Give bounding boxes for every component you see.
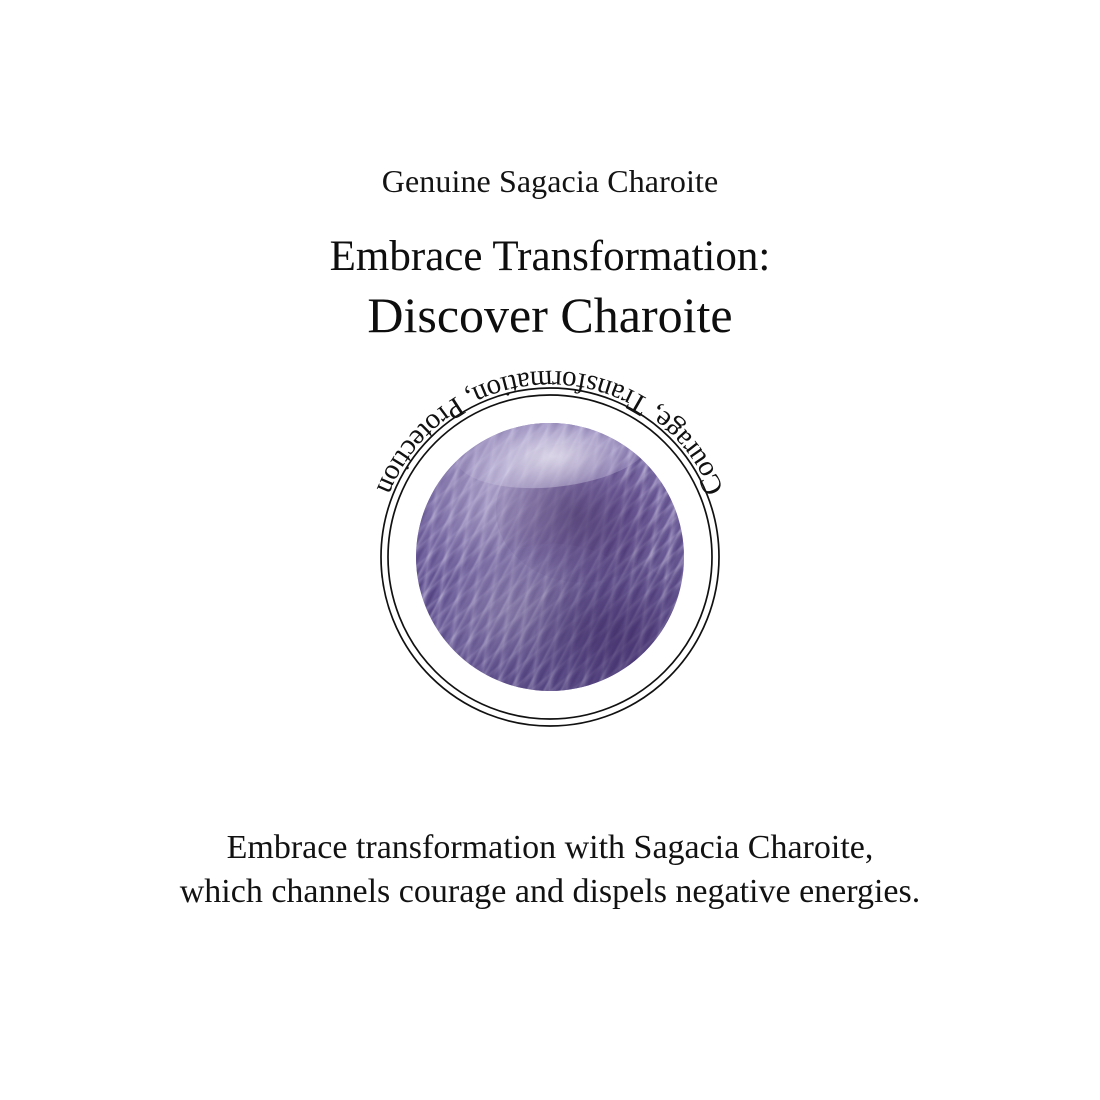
- product-description: Embrace transformation with Sagacia Char…: [0, 826, 1100, 913]
- headline-line-1: Embrace Transformation:: [0, 234, 1100, 280]
- arc-caption-textpath: Courage, Transformation, Protection: [370, 364, 730, 500]
- charoite-product-card: Genuine Sagacia Charoite Embrace Transfo…: [0, 0, 1100, 1100]
- description-line-2: which channels courage and dispels negat…: [0, 870, 1100, 914]
- emblem-rings-and-caption: Courage, Transformation, Protection: [300, 307, 800, 807]
- brand-eyebrow: Genuine Sagacia Charoite: [0, 163, 1100, 200]
- arc-caption-text: Courage, Transformation, Protection: [370, 364, 730, 500]
- description-line-1: Embrace transformation with Sagacia Char…: [0, 826, 1100, 870]
- inner-ring: [388, 395, 712, 719]
